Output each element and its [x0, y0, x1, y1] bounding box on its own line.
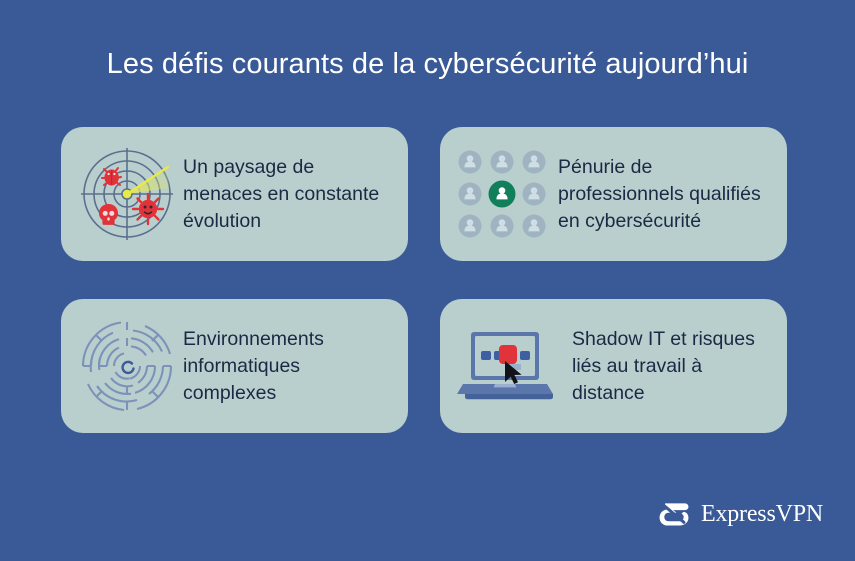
virus-threat: [133, 194, 163, 224]
expressvpn-logo-icon: [657, 497, 691, 531]
challenge-card-grid: Un paysage de menaces en constante évolu…: [61, 127, 787, 433]
infographic-root: Les défis courants de la cybersécurité a…: [0, 0, 855, 561]
page-title: Les défis courants de la cybersécurité a…: [0, 44, 855, 84]
card-label: Environnements informatiques complexes: [179, 326, 394, 407]
card-talent-shortage[interactable]: Pénurie de professionnels qualifiés en c…: [440, 127, 787, 261]
radar-threats-icon: [75, 142, 179, 246]
laptop-cursor-icon: [454, 314, 564, 418]
bug-threat: [102, 168, 121, 186]
expressvpn-logo[interactable]: ExpressVPN: [657, 497, 823, 531]
highlighted-person: [489, 181, 516, 208]
expressvpn-wordmark: ExpressVPN: [701, 502, 823, 526]
skull-threat: [99, 204, 118, 225]
people-grid-icon: [454, 142, 550, 246]
card-complex-environments[interactable]: Environnements informatiques complexes: [61, 299, 408, 433]
maze-icon: [75, 314, 179, 418]
card-label: Pénurie de professionnels qualifiés en c…: [550, 154, 773, 235]
card-shadow-it[interactable]: Shadow IT et risques liés au travail à d…: [440, 299, 787, 433]
card-label: Un paysage de menaces en constante évolu…: [179, 154, 394, 235]
card-threat-landscape[interactable]: Un paysage de menaces en constante évolu…: [61, 127, 408, 261]
card-label: Shadow IT et risques liés au travail à d…: [564, 326, 773, 407]
